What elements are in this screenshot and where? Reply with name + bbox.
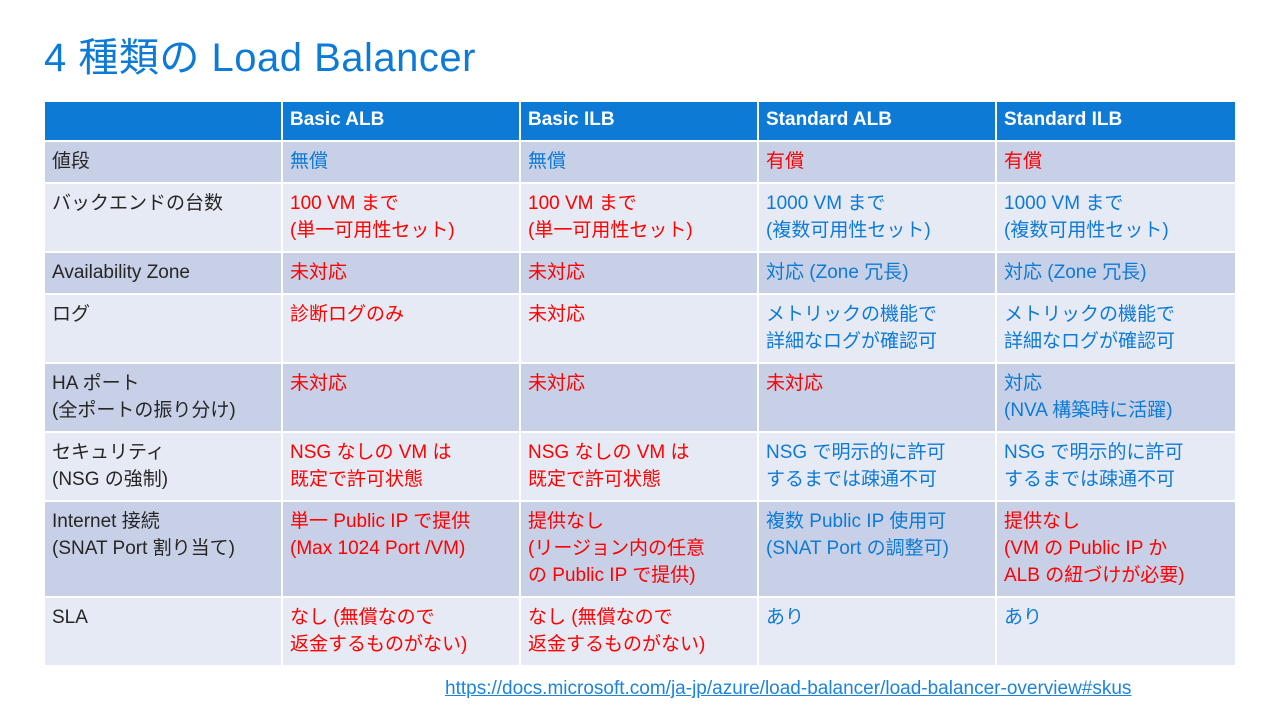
table-row: Availability Zone未対応未対応対応 (Zone 冗長)対応 (Z… [45, 253, 1235, 295]
table-row: HA ポート (全ポートの振り分け)未対応未対応未対応対応 (NVA 構築時に活… [45, 364, 1235, 433]
table-cell: 対応 (Zone 冗長) [997, 253, 1235, 295]
row-label: バックエンドの台数 [45, 184, 283, 253]
table-cell: 提供なし (リージョン内の任意 の Public IP で提供) [521, 502, 759, 598]
table-cell: 1000 VM まで (複数可用性セット) [997, 184, 1235, 253]
table-cell: あり [997, 598, 1235, 667]
table-cell: 100 VM まで (単一可用性セット) [283, 184, 521, 253]
row-label: セキュリティ (NSG の強制) [45, 433, 283, 502]
table-cell: 診断ログのみ [283, 295, 521, 364]
page-title: 4 種類の Load Balancer [44, 33, 476, 83]
table-cell: 対応 (Zone 冗長) [759, 253, 997, 295]
table-header: Basic ALB Basic ILB Standard ALB Standar… [45, 102, 1235, 142]
load-balancer-comparison-table: Basic ALB Basic ILB Standard ALB Standar… [45, 102, 1235, 667]
table-cell: 未対応 [283, 364, 521, 433]
table-cell: なし (無償なので 返金するものがない) [283, 598, 521, 667]
slide-canvas: 4 種類の Load Balancer Basic ALB Basic ILB … [0, 0, 1280, 720]
table-cell: 100 VM まで (単一可用性セット) [521, 184, 759, 253]
table-cell: NSG なしの VM は 既定で許可状態 [283, 433, 521, 502]
row-label: Internet 接続 (SNAT Port 割り当て) [45, 502, 283, 598]
column-header-basic-alb: Basic ALB [283, 102, 521, 142]
column-header-standard-alb: Standard ALB [759, 102, 997, 142]
table-cell: 未対応 [521, 364, 759, 433]
row-label: ログ [45, 295, 283, 364]
table-cell: NSG で明示的に許可 するまでは疎通不可 [759, 433, 997, 502]
table-row: セキュリティ (NSG の強制)NSG なしの VM は 既定で許可状態NSG … [45, 433, 1235, 502]
table-cell: メトリックの機能で 詳細なログが確認可 [759, 295, 997, 364]
table-cell: 未対応 [759, 364, 997, 433]
table-cell: 未対応 [521, 253, 759, 295]
table-cell: あり [759, 598, 997, 667]
table-row: 値段無償無償有償有償 [45, 142, 1235, 184]
table-body: 値段無償無償有償有償バックエンドの台数100 VM まで (単一可用性セット)1… [45, 142, 1235, 667]
table-cell: 無償 [283, 142, 521, 184]
row-label: HA ポート (全ポートの振り分け) [45, 364, 283, 433]
table-row: ログ診断ログのみ未対応メトリックの機能で 詳細なログが確認可メトリックの機能で … [45, 295, 1235, 364]
table-cell: なし (無償なので 返金するものがない) [521, 598, 759, 667]
table-row: SLAなし (無償なので 返金するものがない)なし (無償なので 返金するものが… [45, 598, 1235, 667]
table-cell: NSG なしの VM は 既定で許可状態 [521, 433, 759, 502]
table-cell: 1000 VM まで (複数可用性セット) [759, 184, 997, 253]
table-cell: 対応 (NVA 構築時に活躍) [997, 364, 1235, 433]
table-cell: 有償 [997, 142, 1235, 184]
table-header-row: Basic ALB Basic ILB Standard ALB Standar… [45, 102, 1235, 142]
table-row: バックエンドの台数100 VM まで (単一可用性セット)100 VM まで (… [45, 184, 1235, 253]
table-cell: 有償 [759, 142, 997, 184]
column-header-basic-ilb: Basic ILB [521, 102, 759, 142]
table-cell: 無償 [521, 142, 759, 184]
table-cell: 単一 Public IP で提供 (Max 1024 Port /VM) [283, 502, 521, 598]
table-cell: 複数 Public IP 使用可 (SNAT Port の調整可) [759, 502, 997, 598]
row-label: Availability Zone [45, 253, 283, 295]
table-row: Internet 接続 (SNAT Port 割り当て)単一 Public IP… [45, 502, 1235, 598]
table-cell: 未対応 [283, 253, 521, 295]
table-cell: メトリックの機能で 詳細なログが確認可 [997, 295, 1235, 364]
row-label: 値段 [45, 142, 283, 184]
table-cell: 未対応 [521, 295, 759, 364]
column-header-blank [45, 102, 283, 142]
source-documentation-link[interactable]: https://docs.microsoft.com/ja-jp/azure/l… [445, 676, 1131, 702]
table-cell: 提供なし (VM の Public IP か ALB の紐づけが必要) [997, 502, 1235, 598]
column-header-standard-ilb: Standard ILB [997, 102, 1235, 142]
row-label: SLA [45, 598, 283, 667]
table-cell: NSG で明示的に許可 するまでは疎通不可 [997, 433, 1235, 502]
